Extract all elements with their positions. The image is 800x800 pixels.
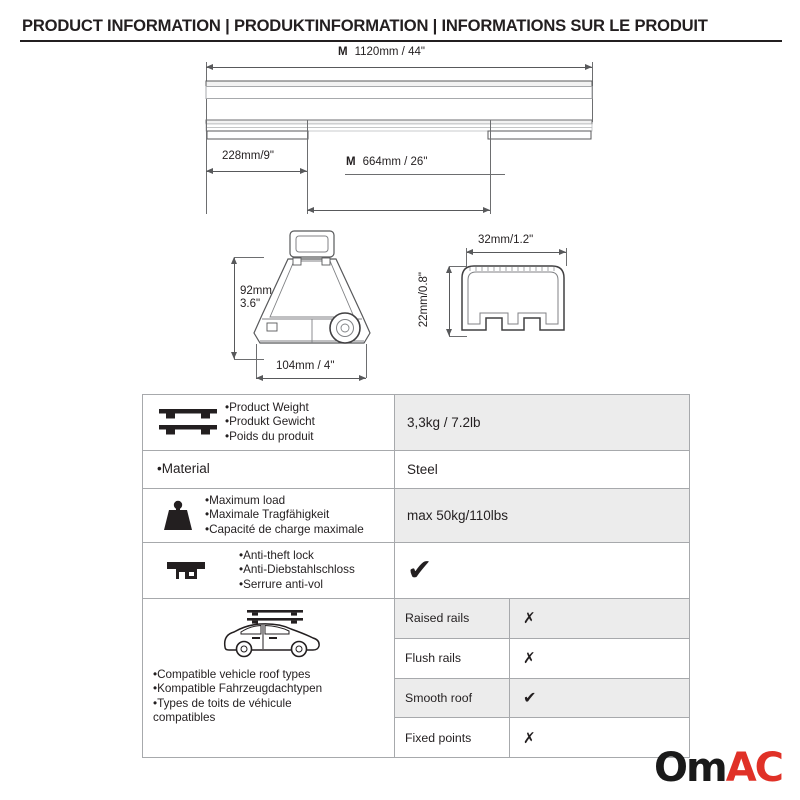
roof-types-label-cell: •Compatible vehicle roof types •Kompatib… <box>143 599 395 757</box>
specification-table: •Product Weight •Produkt Gewicht •Poids … <box>142 394 690 758</box>
overall-length-arrow <box>206 67 592 68</box>
roof-types-label-fr-cont: compatibles <box>153 711 322 725</box>
crossbar-top-view <box>0 78 800 108</box>
logo-text-dark: Om <box>654 745 726 791</box>
header-divider <box>20 40 782 42</box>
lock-icon <box>151 558 225 584</box>
profile-width-label: 32mm/1.2" <box>478 234 533 246</box>
roof-types-label-de: •Kompatible Fahrzeugdachtypen <box>153 682 322 696</box>
spec-value-cell: ✔ <box>395 543 689 598</box>
roof-type-row: Raised rails ✗ <box>395 599 689 639</box>
spec-label-en: •Maximum load <box>205 494 364 508</box>
profile-width-arrow <box>466 252 566 253</box>
roof-types-subtable: Raised rails ✗ Flush rails ✗ Smooth roof… <box>395 599 689 757</box>
crossbar-plan-view <box>0 116 800 156</box>
foot-height-in: 3.6" <box>240 298 272 311</box>
roof-type-row: Flush rails ✗ <box>395 639 689 679</box>
profile-height-arrow <box>449 266 450 336</box>
weight-icon <box>151 500 205 532</box>
spec-label-fr: •Serrure anti-vol <box>239 578 355 592</box>
roof-type-name: Fixed points <box>395 718 510 757</box>
foot-height-ext-top <box>234 257 264 258</box>
profile-height-value: 22mm/0.8" <box>418 272 430 327</box>
spec-label-fr: •Capacité de charge maximale <box>205 523 364 537</box>
end-offset-arrow <box>206 171 307 172</box>
spec-label-cell: •Material <box>143 451 395 488</box>
spec-label-de: •Anti-Diebstahlschloss <box>239 563 355 577</box>
foot-height-mm: 92mm <box>240 285 272 298</box>
spec-label-en: •Anti-theft lock <box>239 549 355 563</box>
leader-vertical <box>307 134 308 174</box>
foot-width-label: 104mm / 4" <box>276 360 334 372</box>
logo-text-red: AC <box>726 745 782 791</box>
table-row-roof-types: •Compatible vehicle roof types •Kompatib… <box>143 599 689 757</box>
spec-label-en: •Product Weight <box>225 401 315 415</box>
span-value: 664mm / 26" <box>363 156 428 168</box>
omac-logo: OmAC <box>654 748 782 788</box>
page-title: PRODUCT INFORMATION | PRODUKTINFORMATION… <box>22 16 708 36</box>
spec-label-texts: •Anti-theft lock •Anti-Diebstahlschloss … <box>225 549 355 592</box>
overall-length-value: 1120mm / 44" <box>355 46 425 58</box>
spec-label-fr: •Poids du produit <box>225 430 315 444</box>
table-row: •Material Steel <box>143 451 689 489</box>
overall-length-prefix: M <box>338 46 348 58</box>
roof-type-row: Fixed points ✗ <box>395 718 689 757</box>
span-label: M664mm / 26" <box>346 156 427 168</box>
roof-type-name: Raised rails <box>395 599 510 638</box>
span-underline <box>345 174 505 175</box>
roof-type-mark: ✗ <box>510 639 689 678</box>
foot-height-arrow <box>234 257 235 359</box>
foot-width-arrow <box>256 378 366 379</box>
foot-height-label: 92mm 3.6" <box>240 285 272 311</box>
check-icon: ✔ <box>407 556 432 586</box>
table-row: •Maximum load •Maximale Tragfähigkeit •C… <box>143 489 689 543</box>
cross-icon: ✗ <box>523 729 536 747</box>
span-prefix: M <box>346 156 356 168</box>
cross-icon: ✗ <box>523 609 536 627</box>
technical-drawing: M1120mm / 44" 228mm/9" M664mm / 26" <box>0 44 800 390</box>
spec-label-de: •Maximale Tragfähigkeit <box>205 508 364 522</box>
roof-type-name: Smooth roof <box>395 679 510 718</box>
roof-types-label-texts: •Compatible vehicle roof types •Kompatib… <box>151 668 322 725</box>
spec-label-cell: •Anti-theft lock •Anti-Diebstahlschloss … <box>143 543 395 598</box>
spec-value-cell: max 50kg/110lbs <box>395 489 689 542</box>
foot-width-ext-right <box>366 344 367 378</box>
roof-rack-bars-icon <box>151 406 225 440</box>
spec-label-en: •Material <box>157 461 210 477</box>
table-row: •Anti-theft lock •Anti-Diebstahlschloss … <box>143 543 689 599</box>
roof-type-row: Smooth roof ✔ <box>395 679 689 719</box>
span-arrow <box>307 210 490 211</box>
end-offset-value: 228mm/9" <box>222 150 274 162</box>
end-offset-label: 228mm/9" <box>222 150 274 162</box>
roof-type-name: Flush rails <box>395 639 510 678</box>
car-with-roof-rack-icon <box>217 607 325 664</box>
foot-width-value: 104mm / 4" <box>276 360 334 372</box>
extension-line-a <box>206 120 207 214</box>
spec-label-texts: •Product Weight •Produkt Gewicht •Poids … <box>225 401 315 444</box>
spec-label-texts: •Maximum load •Maximale Tragfähigkeit •C… <box>205 494 364 537</box>
spec-label-cell: •Maximum load •Maximale Tragfähigkeit •C… <box>143 489 395 542</box>
profile-width-value: 32mm/1.2" <box>478 234 533 246</box>
spec-value-cell: 3,3kg / 7.2lb <box>395 395 689 450</box>
spec-value-cell: Steel <box>395 451 689 488</box>
roof-types-label-en: •Compatible vehicle roof types <box>153 668 322 682</box>
table-row: •Product Weight •Produkt Gewicht •Poids … <box>143 395 689 451</box>
spec-label-texts: •Material <box>151 461 210 477</box>
spec-label-cell: •Product Weight •Produkt Gewicht •Poids … <box>143 395 395 450</box>
check-icon: ✔ <box>523 688 536 708</box>
profile-height-label: 22mm/0.8" <box>418 272 430 327</box>
extension-line-c <box>490 120 491 214</box>
cross-icon: ✗ <box>523 649 536 667</box>
roof-types-label-fr: •Types de toits de véhicule <box>153 697 322 711</box>
foot-width-ext-left <box>256 344 257 378</box>
foot-height-ext-bottom <box>234 359 264 360</box>
profile-cross-section <box>456 258 616 350</box>
roof-type-mark: ✔ <box>510 679 689 718</box>
roof-type-mark: ✗ <box>510 599 689 638</box>
overall-length-label: M1120mm / 44" <box>338 46 425 58</box>
spec-label-de: •Produkt Gewicht <box>225 415 315 429</box>
